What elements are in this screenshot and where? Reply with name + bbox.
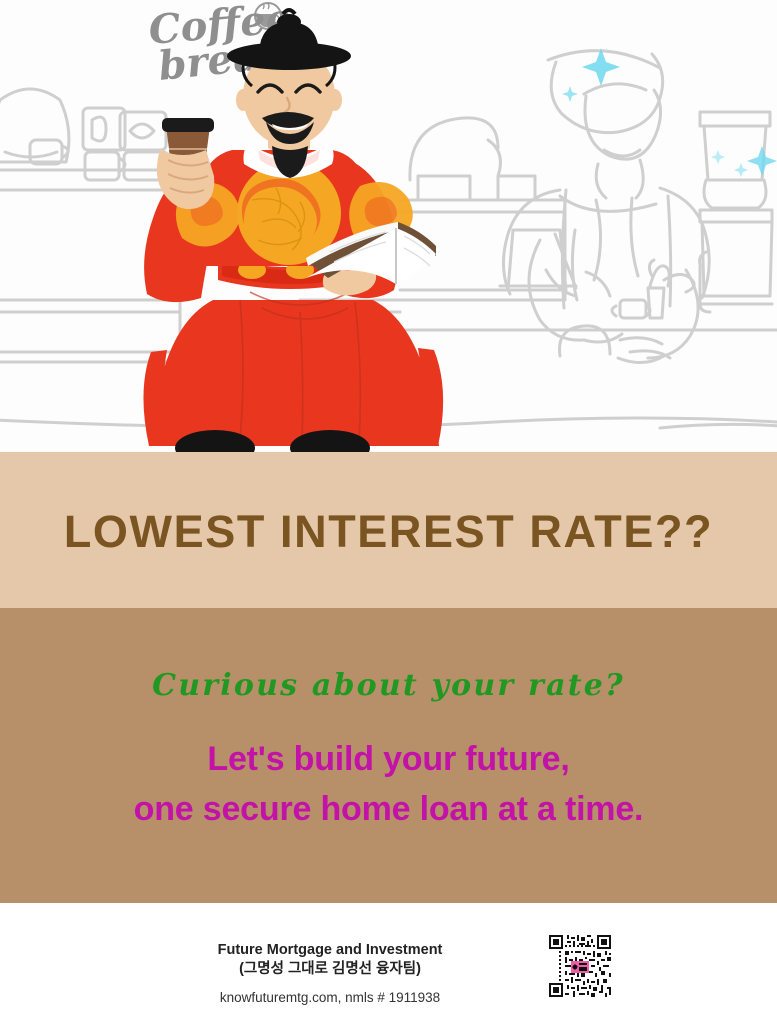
- company-name: Future Mortgage and Investment: [140, 941, 520, 960]
- qr-code-icon[interactable]: [547, 933, 613, 999]
- tagline-line-2: one secure home loan at a time.: [0, 784, 777, 834]
- footer: Future Mortgage and Investment (그명성 그대로 …: [0, 903, 777, 1036]
- company-name-korean: (그명성 그대로 김명선 융자팀): [140, 960, 520, 979]
- poster-root: Coffee break: [0, 0, 777, 1036]
- contact-info[interactable]: knowfuturemtg.com, nmls # 1911938: [140, 990, 520, 1005]
- footer-text-block: Future Mortgage and Investment (그명성 그대로 …: [140, 941, 520, 1005]
- king-character-illustration: [0, 0, 777, 452]
- tagline: Let's build your future, one secure home…: [0, 734, 777, 834]
- subheadline: Curious about your rate?: [0, 668, 777, 703]
- qr-code[interactable]: [547, 933, 613, 999]
- page-title: LOWEST INTEREST RATE??: [0, 506, 777, 558]
- hero-illustration-area: Coffee break: [0, 0, 777, 452]
- tagline-line-1: Let's build your future,: [0, 734, 777, 784]
